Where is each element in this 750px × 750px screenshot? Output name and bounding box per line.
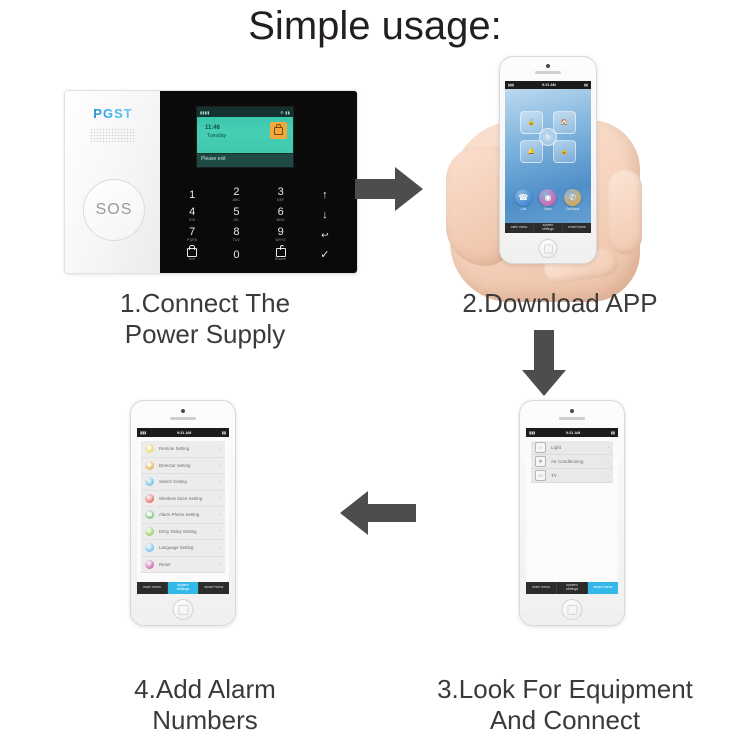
front-camera-icon (546, 64, 550, 68)
arrow-right-icon (355, 165, 425, 213)
settings-row[interactable]: ❖Remote Setting› (141, 441, 225, 458)
app-background: 🔒🏠🔔🔓↻ ☎Call◉Siren✆Call Back (505, 89, 591, 233)
front-camera-icon (570, 409, 574, 413)
settings-item-label: Alarm Phone Setting (159, 512, 219, 517)
key-sublabel: MNO (276, 218, 284, 223)
settings-item-icon: ◎ (145, 494, 154, 503)
key-digit: 3 (278, 187, 284, 198)
settings-item-icon: ◉ (145, 461, 154, 470)
tab-main-menu[interactable]: main menu (137, 582, 168, 594)
home-button[interactable] (173, 599, 194, 620)
key-sublabel: Disarm (275, 257, 287, 262)
settings-row[interactable]: ◎Wireless Siren Setting› (141, 491, 225, 508)
home-button[interactable] (539, 239, 558, 258)
arm-away-button[interactable]: 🔒 (520, 111, 543, 134)
settings-row[interactable]: ◑Switch Setting› (141, 474, 225, 491)
step-4-caption: 4.Add Alarm Numbers (40, 674, 370, 736)
key-1[interactable]: 1 (170, 185, 214, 205)
key-digit: 8 (233, 227, 239, 238)
settings-item-icon: ❖ (145, 444, 154, 453)
tab-main-menu[interactable]: main menu (526, 582, 557, 594)
key-4[interactable]: 4GHI (170, 205, 214, 225)
fingers-right (608, 170, 642, 254)
key-9[interactable]: 9WXYZ (259, 225, 303, 245)
shortcut-call-back[interactable]: ✆Call Back (564, 189, 581, 212)
chevron-right-icon: › (219, 512, 221, 518)
battery-icon: ▮▮ (222, 430, 226, 435)
lcd-bezel: ▮▮▮▮ ⚙ ▮▮ 11:46 Tuesday Please exit (160, 91, 357, 179)
key-sublabel: PQRS (187, 238, 197, 243)
lcd-footer-text: Please exit (197, 154, 293, 162)
lcd-body: 11:46 Tuesday (197, 117, 293, 153)
arrow-down-icon (520, 330, 568, 398)
settings-screen: ▮▮▮ 9:31 AM ▮▮ ❖Remote Setting›◉Detector… (137, 428, 229, 594)
earpiece-speaker (535, 71, 561, 74)
chevron-right-icon: › (219, 495, 221, 501)
tabbar[interactable]: main menusystem settingssmart home (505, 223, 591, 233)
shortcut-icon: ◉ (539, 189, 556, 206)
shortcut-row: ☎Call◉Siren✆Call Back (505, 189, 591, 212)
settings-item-label: Language Setting (159, 545, 219, 550)
arrow-down-icon[interactable]: ↓ (303, 205, 347, 225)
signal-icon: ▮▮▮ (508, 83, 514, 87)
signal-icon: ▮▮▮ (140, 430, 146, 435)
pgst-brand-logo: PGST (85, 107, 141, 121)
tab-main-menu[interactable]: main menu (505, 223, 534, 233)
smartphone-settings-list: ▮▮▮ 9:31 AM ▮▮ ❖Remote Setting›◉Detector… (130, 400, 236, 626)
statusbar: ▮▮▮ 9:31 AM ▮▮ (137, 428, 229, 437)
key-6[interactable]: 6MNO (259, 205, 303, 225)
chevron-right-icon: › (219, 545, 221, 551)
key-7[interactable]: 7PQRS (170, 225, 214, 245)
settings-item-icon: ☎ (145, 510, 154, 519)
equipment-row[interactable]: ❄Air Conditioning› (531, 455, 613, 469)
equipment-name: Air Conditioning (551, 459, 607, 464)
key-2[interactable]: 2ABC (214, 185, 258, 205)
equipment-name: Light (551, 445, 607, 450)
step-3-caption: 3.Look For Equipment And Connect (380, 674, 750, 736)
chevron-right-icon: › (219, 462, 221, 468)
settings-item-label: Switch Setting (159, 479, 219, 484)
equipment-screen: ▮▮▮ 9:31 AM ▮▮ ○Light›❄Air Conditioning›… (526, 428, 618, 594)
equipment-row[interactable]: ▭TV› (531, 469, 613, 483)
lcd-display: ▮▮▮▮ ⚙ ▮▮ 11:46 Tuesday Please exit (196, 106, 294, 168)
settings-row[interactable]: ◉Detector Setting› (141, 458, 225, 475)
front-camera-icon (181, 409, 185, 413)
shortcut-label: Siren (544, 207, 551, 211)
clock: 9:31 AM (542, 83, 556, 87)
shortcut-siren[interactable]: ◉Siren (539, 189, 556, 212)
key-glyph: ↩ (321, 229, 329, 241)
settings-item-label: Entry Delay Setting (159, 529, 219, 534)
key-sublabel: JKL (233, 218, 239, 223)
shortcut-label: Call Back (566, 207, 579, 211)
key-digit: 9 (278, 227, 284, 238)
settings-row[interactable]: ☎Alarm Phone Setting› (141, 507, 225, 524)
alarm-panel-right-face: ▮▮▮▮ ⚙ ▮▮ 11:46 Tuesday Please exit 12AB… (160, 91, 357, 273)
equipment-list[interactable]: ○Light›❄Air Conditioning›▭TV› (531, 441, 613, 483)
lcd-statusbar: ▮▮▮▮ ⚙ ▮▮ (197, 107, 293, 117)
settings-row[interactable]: ⏱Entry Delay Setting› (141, 524, 225, 541)
disarm-button[interactable]: 🔓 (553, 140, 576, 163)
key-3[interactable]: 3DEF (259, 185, 303, 205)
statusbar: ▮▮▮ 9:31 AM ▮▮ (505, 81, 591, 89)
key-8[interactable]: 8TUV (214, 225, 258, 245)
lcd-signal-icon: ▮▮▮▮ (200, 110, 210, 115)
settings-list[interactable]: ❖Remote Setting›◉Detector Setting›◑Switc… (141, 441, 225, 573)
key-glyph: ↓ (322, 209, 328, 221)
tab-smart-home[interactable]: smart home (588, 582, 618, 594)
key-digit: 1 (189, 190, 195, 201)
shortcut-icon: ☎ (515, 189, 532, 206)
settings-row[interactable]: ↺Reset› (141, 557, 225, 574)
key-sublabel: WXYZ (275, 238, 285, 243)
arm-key[interactable]: Arm (170, 245, 214, 265)
chevron-right-icon: › (219, 446, 221, 452)
back-arrow-icon[interactable]: ↩ (303, 225, 347, 245)
chevron-right-icon: › (607, 473, 609, 479)
arrow-up-icon[interactable]: ↑ (303, 185, 347, 205)
disarm-key[interactable]: Disarm (259, 245, 303, 265)
signal-icon: ▮▮▮ (529, 430, 535, 435)
step-2-caption: 2.Download APP (390, 288, 730, 319)
key-digit: 4 (189, 207, 195, 218)
refresh-button[interactable]: ↻ (539, 128, 557, 146)
lcd-time: 11:46 (205, 124, 220, 132)
lcd-footer: Please exit (197, 153, 293, 167)
key-sublabel: TUV (233, 238, 240, 243)
mode-button-cluster: 🔒🏠🔔🔓↻ (520, 111, 576, 163)
key-sublabel: Arm (189, 257, 196, 262)
sos-button[interactable]: SOS (83, 179, 145, 241)
key-sublabel: ABC (233, 198, 240, 203)
key-digit: 0 (233, 250, 239, 261)
settings-item-icon: ◑ (145, 477, 154, 486)
clock: 9:31 AM (177, 431, 191, 435)
arm-home-button[interactable]: 🏠 (553, 111, 576, 134)
ac-icon: ❄ (535, 456, 546, 467)
arrow-left-icon (338, 487, 418, 539)
earpiece-speaker (559, 417, 585, 420)
settings-item-label: Reset (159, 562, 219, 567)
tab-system-settings[interactable]: system settings (534, 223, 563, 233)
home-armed-icon (270, 122, 287, 139)
equipment-row[interactable]: ○Light› (531, 441, 613, 455)
shortcut-call[interactable]: ☎Call (515, 189, 532, 212)
key-0[interactable]: 0 (214, 245, 258, 265)
tab-smart-home[interactable]: smart home (199, 582, 229, 594)
bulb-icon: ○ (535, 442, 546, 453)
battery-icon: ▮▮ (611, 430, 615, 435)
app-home-screen: ▮▮▮ 9:31 AM ▮▮ 🔒🏠🔔🔓↻ ☎Call◉Siren✆Call Ba… (505, 81, 591, 233)
key-digit: 5 (233, 207, 239, 218)
tabbar[interactable]: main menusystem settingssmart home (137, 582, 229, 594)
tab-smart-home[interactable]: smart home (563, 223, 591, 233)
settings-item-icon: Ⓐ (145, 543, 154, 552)
tabbar[interactable]: main menusystem settingssmart home (526, 582, 618, 594)
key-5[interactable]: 5JKL (214, 205, 258, 225)
settings-item-icon: ↺ (145, 560, 154, 569)
settings-item-icon: ⏱ (145, 527, 154, 536)
key-digit: 2 (233, 187, 239, 198)
battery-icon: ▮▮ (584, 83, 588, 87)
step-1-caption: 1.Connect The Power Supply (40, 288, 370, 350)
key-digit: 7 (189, 227, 195, 238)
key-glyph: ↑ (322, 189, 328, 201)
settings-item-label: Wireless Siren Setting (159, 496, 219, 501)
simple-usage-infographic: Simple usage: PGST SOS ▮▮▮▮ ⚙ ▮▮ 11:46 T… (0, 0, 750, 750)
alarm-panel-left-face: PGST SOS (65, 91, 160, 273)
home-button[interactable] (562, 599, 583, 620)
tab-system-settings[interactable]: system settings (557, 582, 588, 594)
key-digit: 6 (278, 207, 284, 218)
key-sublabel: GHI (189, 218, 195, 223)
settings-row[interactable]: ⒶLanguage Setting› (141, 540, 225, 557)
smartphone-equipment-list: ▮▮▮ 9:31 AM ▮▮ ○Light›❄Air Conditioning›… (519, 400, 625, 626)
smartphone-app-home: ▮▮▮ 9:31 AM ▮▮ 🔒🏠🔔🔓↻ ☎Call◉Siren✆Call Ba… (499, 56, 597, 264)
shortcut-label: Call (521, 207, 527, 211)
chevron-right-icon: › (607, 445, 609, 451)
lock-icon (187, 248, 197, 257)
chevron-right-icon: › (219, 479, 221, 485)
equipment-name: TV (551, 473, 607, 478)
clock: 9:31 AM (566, 431, 580, 435)
unlock-icon (276, 248, 286, 257)
chevron-right-icon: › (607, 459, 609, 465)
key-glyph: ✓ (320, 249, 329, 261)
lcd-day: Tuesday (207, 133, 226, 140)
shortcut-icon: ✆ (564, 189, 581, 206)
sos-button[interactable]: 🔔 (520, 140, 543, 163)
tv-icon: ▭ (535, 470, 546, 481)
chevron-right-icon: › (219, 561, 221, 567)
alarm-panel-device: PGST SOS ▮▮▮▮ ⚙ ▮▮ 11:46 Tuesday (64, 90, 358, 274)
keypad[interactable]: 12ABC3DEF↑4GHI5JKL6MNO↓7PQRS8TUV9WXYZ↩Ar… (160, 179, 357, 273)
settings-item-label: Remote Setting (159, 446, 219, 451)
speaker-grille (90, 128, 136, 142)
chevron-right-icon: › (219, 528, 221, 534)
check-icon[interactable]: ✓ (303, 245, 347, 265)
tab-system-settings[interactable]: system settings (168, 582, 199, 594)
key-sublabel: DEF (277, 198, 284, 203)
statusbar: ▮▮▮ 9:31 AM ▮▮ (526, 428, 618, 437)
page-title: Simple usage: (0, 4, 750, 49)
earpiece-speaker (170, 417, 196, 420)
settings-item-label: Detector Setting (159, 463, 219, 468)
lcd-battery-icon: ⚙ ▮▮ (280, 110, 290, 115)
